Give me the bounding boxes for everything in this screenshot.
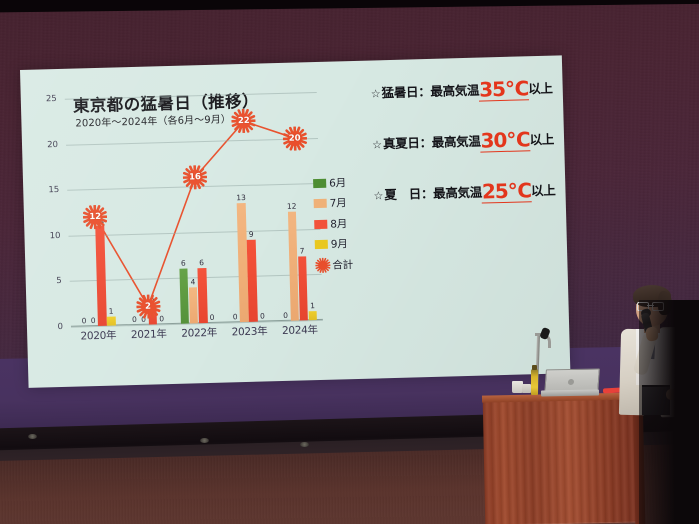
sun-marker-2024年: 20 bbox=[282, 126, 307, 151]
legend-item-9月: 9月 bbox=[315, 234, 371, 254]
right-shadow bbox=[639, 300, 699, 524]
legend-label: 6月 bbox=[329, 175, 346, 190]
legend-label: 7月 bbox=[330, 195, 347, 210]
sun-marker-2023年: 22 bbox=[232, 109, 257, 134]
bar-value-label: 6 bbox=[174, 259, 192, 268]
total-value-label: 12 bbox=[83, 204, 108, 229]
star-icon: ☆ bbox=[371, 87, 381, 100]
legend-item-total: 合計 bbox=[315, 255, 371, 275]
bar-value-label: 9 bbox=[242, 229, 260, 238]
bar-value-label: 6 bbox=[192, 258, 210, 267]
note-label: 真夏日：最高気温 bbox=[383, 131, 481, 153]
y-axis-tick-label: 5 bbox=[38, 276, 62, 287]
bar-value-label: 0 bbox=[253, 311, 271, 320]
sun-marker-2022年: 16 bbox=[183, 165, 208, 190]
podium-wood-grain bbox=[483, 396, 642, 524]
legend-label: 合計 bbox=[332, 257, 353, 273]
bar-value-label: 13 bbox=[232, 193, 250, 202]
bar-2024年-9月 bbox=[309, 311, 318, 320]
note-suffix: 以上 bbox=[528, 78, 553, 98]
legend-swatch-icon bbox=[314, 199, 327, 208]
note-temperature: 30℃ bbox=[480, 129, 530, 152]
floor-light bbox=[200, 438, 209, 443]
note-suffix: 以上 bbox=[529, 129, 554, 149]
definition-notes: ☆猛暑日：最高気温35℃以上☆真夏日：最高気温30℃以上☆夏 日：最高気温25℃… bbox=[370, 75, 564, 233]
laptop-logo bbox=[568, 379, 574, 385]
bar-value-label: 0 bbox=[203, 313, 221, 322]
bar-value-label: 12 bbox=[283, 201, 301, 210]
sun-icon bbox=[315, 257, 330, 272]
bar-value-label: 1 bbox=[102, 306, 120, 315]
y-axis-tick-label: 0 bbox=[39, 322, 63, 333]
legend-swatch-icon bbox=[313, 178, 326, 187]
star-icon: ☆ bbox=[373, 189, 383, 202]
note-suffix: 以上 bbox=[531, 180, 556, 200]
chart: 0510152025 00111002064600139001271122162… bbox=[26, 80, 334, 370]
plot-area: 00111002064600139001271122162220 bbox=[65, 92, 323, 327]
legend-item-6月: 6月 bbox=[313, 173, 369, 193]
bar-2022年-7月 bbox=[189, 287, 198, 324]
cup bbox=[522, 384, 531, 393]
bar-value-label: 1 bbox=[304, 301, 322, 310]
total-value-label: 20 bbox=[282, 126, 307, 151]
note-label: 猛暑日：最高気温 bbox=[381, 80, 479, 102]
bottle bbox=[531, 369, 538, 395]
sun-marker-2021年: 2 bbox=[136, 294, 161, 319]
y-axis-tick-label: 20 bbox=[34, 140, 58, 151]
laptop-keyboard bbox=[541, 389, 599, 396]
floor-light bbox=[28, 434, 37, 439]
total-value-label: 22 bbox=[232, 109, 257, 134]
bottle-cap bbox=[532, 365, 537, 370]
podium bbox=[483, 396, 642, 524]
legend-swatch-icon bbox=[314, 219, 327, 228]
note-row-3: ☆夏 日：最高気温25℃以上 bbox=[373, 177, 564, 204]
chart-legend: 6月7月8月9月合計 bbox=[313, 173, 372, 277]
note-row-1: ☆猛暑日：最高気温35℃以上 bbox=[370, 75, 561, 102]
y-axis-tick-label: 15 bbox=[35, 185, 59, 196]
legend-swatch-icon bbox=[315, 240, 328, 249]
auditorium-scene: 東京都の猛暑日（推移） 2020年～2024年（各6月～9月） 05101520… bbox=[0, 0, 699, 524]
sun-marker-2020年: 12 bbox=[83, 204, 108, 229]
legend-item-8月: 8月 bbox=[314, 214, 370, 234]
slide-content: 東京都の猛暑日（推移） 2020年～2024年（各6月～9月） 05101520… bbox=[20, 55, 570, 388]
bar-value-label: 7 bbox=[293, 246, 311, 255]
y-axis-tick-label: 25 bbox=[33, 94, 57, 105]
bar-2024年-8月 bbox=[298, 256, 308, 320]
legend-item-7月: 7月 bbox=[313, 193, 369, 213]
floor-light bbox=[300, 442, 309, 447]
y-axis-tick-label: 10 bbox=[36, 231, 60, 242]
bar-2020年-9月 bbox=[107, 316, 116, 325]
y-axis: 0510152025 bbox=[26, 80, 326, 88]
note-temperature: 35℃ bbox=[479, 78, 529, 101]
total-value-label: 2 bbox=[136, 294, 161, 319]
x-axis: 2020年2021年2022年2023年2024年 bbox=[26, 80, 326, 88]
total-value-label: 16 bbox=[183, 165, 208, 190]
note-row-2: ☆真夏日：最高気温30℃以上 bbox=[372, 126, 563, 153]
note-temperature: 25℃ bbox=[482, 180, 532, 203]
projected-slide: 東京都の猛暑日（推移） 2020年～2024年（各6月～9月） 05101520… bbox=[20, 55, 570, 388]
x-axis-tick-label: 2024年 bbox=[271, 322, 329, 339]
star-icon: ☆ bbox=[372, 138, 382, 151]
note-label: 夏 日：最高気温 bbox=[384, 182, 482, 204]
legend-label: 8月 bbox=[330, 216, 347, 231]
legend-label: 9月 bbox=[331, 236, 348, 251]
